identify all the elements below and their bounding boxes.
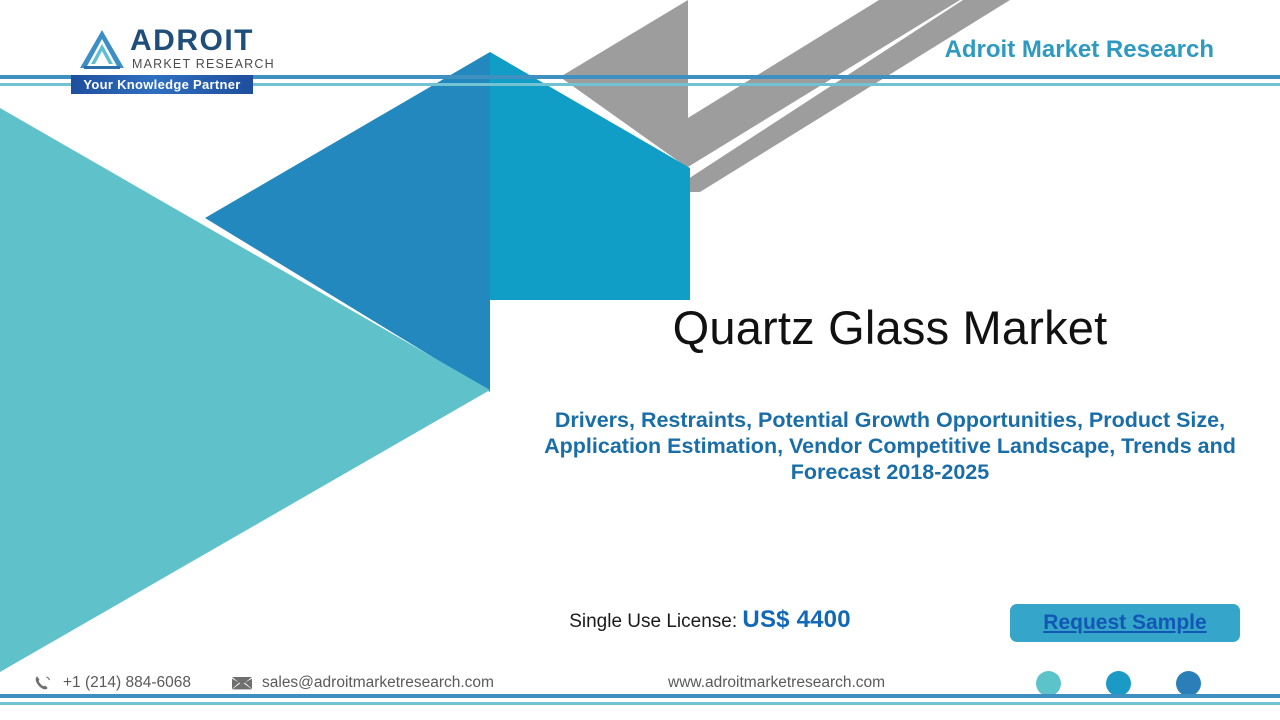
license-price-line: Single Use License: US$ 4400 bbox=[500, 606, 920, 634]
gray-diagonal-band-lower-shape bbox=[668, 0, 1010, 192]
footer-website[interactable]: www.adroitmarketresearch.com bbox=[668, 674, 885, 692]
brand-name-heading: Adroit Market Research bbox=[945, 36, 1214, 64]
logo-subtitle: MARKET RESEARCH bbox=[132, 58, 275, 71]
request-sample-button-label: Request Sample bbox=[1010, 604, 1240, 642]
logo-wordmark: ADROIT bbox=[130, 26, 254, 56]
license-label: Single Use License: bbox=[569, 611, 737, 632]
report-cover-slide: ADROIT MARKET RESEARCH Your Knowledge Pa… bbox=[0, 0, 1280, 720]
cyan-band-shape bbox=[490, 52, 690, 300]
envelope-icon bbox=[231, 674, 253, 692]
footer-email[interactable]: sales@adroitmarketresearch.com bbox=[231, 674, 494, 692]
page-title: Quartz Glass Market bbox=[540, 300, 1240, 355]
report-subtitle: Drivers, Restraints, Potential Growth Op… bbox=[540, 407, 1240, 485]
footer-website-text: www.adroitmarketresearch.com bbox=[668, 674, 885, 692]
adroit-triangle-logo-icon bbox=[78, 28, 126, 70]
dot-blue-icon bbox=[1176, 671, 1201, 696]
footer-phone-text: +1 (214) 884-6068 bbox=[63, 674, 191, 692]
phone-icon bbox=[32, 674, 54, 692]
footer-email-text: sales@adroitmarketresearch.com bbox=[262, 674, 494, 692]
request-sample-button[interactable]: Request Sample bbox=[1010, 604, 1240, 642]
light-teal-triangle-shape bbox=[0, 108, 490, 672]
dot-cyan-icon bbox=[1106, 671, 1131, 696]
dot-light-teal-icon bbox=[1036, 671, 1061, 696]
license-price: US$ 4400 bbox=[742, 606, 850, 633]
footer-rule-thick bbox=[0, 694, 1280, 698]
company-logo[interactable]: ADROIT MARKET RESEARCH Your Knowledge Pa… bbox=[78, 26, 260, 88]
logo-tagline: Your Knowledge Partner bbox=[71, 75, 253, 94]
footer-phone[interactable]: +1 (214) 884-6068 bbox=[32, 674, 191, 692]
mid-blue-triangle-shape bbox=[205, 52, 490, 392]
footer-rule-thin bbox=[0, 702, 1280, 705]
